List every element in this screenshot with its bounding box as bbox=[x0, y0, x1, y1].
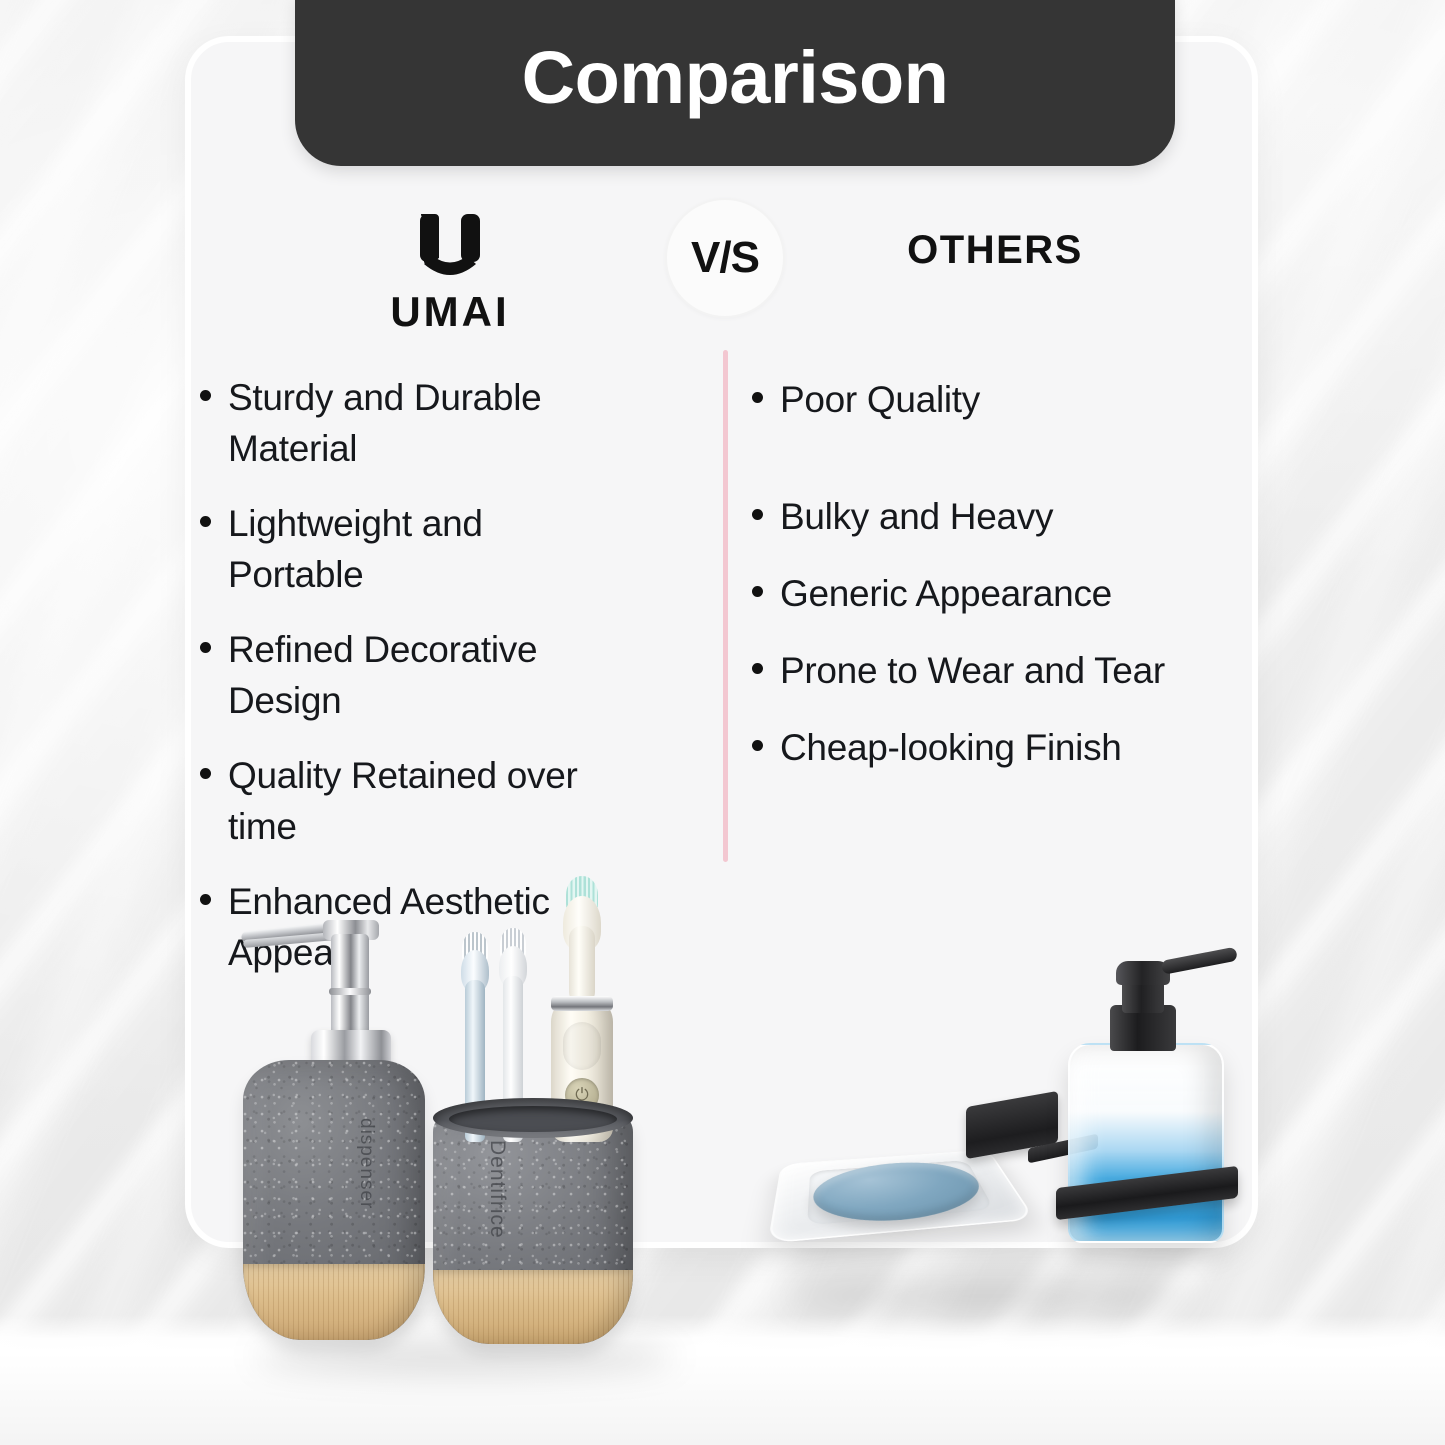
vs-label: V/S bbox=[691, 233, 759, 283]
vs-badge: V/S bbox=[665, 198, 785, 318]
list-item-label: Prone to Wear and Tear bbox=[780, 645, 1165, 696]
list-item: Bulky and Heavy bbox=[752, 491, 1222, 542]
dispenser-engraving: dispenser bbox=[355, 1118, 377, 1209]
soap-dispenser-body: dispenser bbox=[243, 1060, 425, 1340]
bullet-dot-icon bbox=[752, 586, 763, 597]
list-item: Poor Quality bbox=[752, 374, 1222, 425]
list-item-label: Refined Decorative Design bbox=[228, 624, 628, 726]
list-item: Sturdy and Durable Material bbox=[200, 372, 700, 474]
header-banner: Comparison bbox=[295, 0, 1175, 166]
list-item: Lightweight and Portable bbox=[200, 498, 700, 600]
list-item: Quality Retained over time bbox=[200, 750, 700, 852]
brand-column-header: UMAI bbox=[340, 212, 560, 336]
electric-toothbrush-chrome-ring bbox=[551, 996, 613, 1011]
bullet-dot-icon bbox=[752, 740, 763, 751]
bullet-dot-icon bbox=[752, 509, 763, 520]
column-divider bbox=[723, 350, 728, 862]
holder-engraving: Dentifrice bbox=[485, 1140, 509, 1239]
bullet-dot-icon bbox=[752, 663, 763, 674]
page-title: Comparison bbox=[522, 41, 949, 119]
umai-product-image: dispenser Dentifrice bbox=[215, 870, 715, 1380]
list-item: Refined Decorative Design bbox=[200, 624, 700, 726]
dispenser-bamboo-base bbox=[243, 1264, 425, 1340]
list-item: Cheap-looking Finish bbox=[752, 722, 1222, 773]
list-item-label: Lightweight and Portable bbox=[228, 498, 628, 600]
bullet-dot-icon bbox=[752, 392, 763, 403]
holder-bamboo-base bbox=[433, 1270, 633, 1344]
list-item-label: Bulky and Heavy bbox=[780, 491, 1053, 542]
list-item: Generic Appearance bbox=[752, 568, 1222, 619]
holder-inner bbox=[449, 1106, 617, 1132]
others-product-image bbox=[770, 955, 1230, 1325]
list-item-label: Poor Quality bbox=[780, 374, 980, 425]
others-feature-list: Poor Quality Bulky and Heavy Generic App… bbox=[752, 374, 1222, 799]
list-item-label: Generic Appearance bbox=[780, 568, 1112, 619]
others-column-header: OTHERS bbox=[860, 228, 1130, 273]
bullet-dot-icon bbox=[200, 642, 211, 653]
bullet-dot-icon bbox=[200, 390, 211, 401]
list-item-label: Quality Retained over time bbox=[228, 750, 628, 852]
bullet-dot-icon bbox=[200, 894, 211, 905]
list-item-label: Cheap-looking Finish bbox=[780, 722, 1122, 773]
umai-u-logo-icon bbox=[411, 212, 489, 284]
toothbrush-holder-body: Dentifrice bbox=[433, 1106, 633, 1344]
bullet-dot-icon bbox=[200, 768, 211, 779]
electric-toothbrush-neck bbox=[569, 926, 595, 1004]
list-item: Prone to Wear and Tear bbox=[752, 645, 1222, 696]
bullet-dot-icon bbox=[200, 516, 211, 527]
dispenser-pump-shaft-ring bbox=[329, 988, 371, 995]
brand-wordmark: UMAI bbox=[390, 288, 509, 336]
list-item-label: Sturdy and Durable Material bbox=[228, 372, 628, 474]
electric-toothbrush-grip bbox=[563, 1022, 601, 1070]
